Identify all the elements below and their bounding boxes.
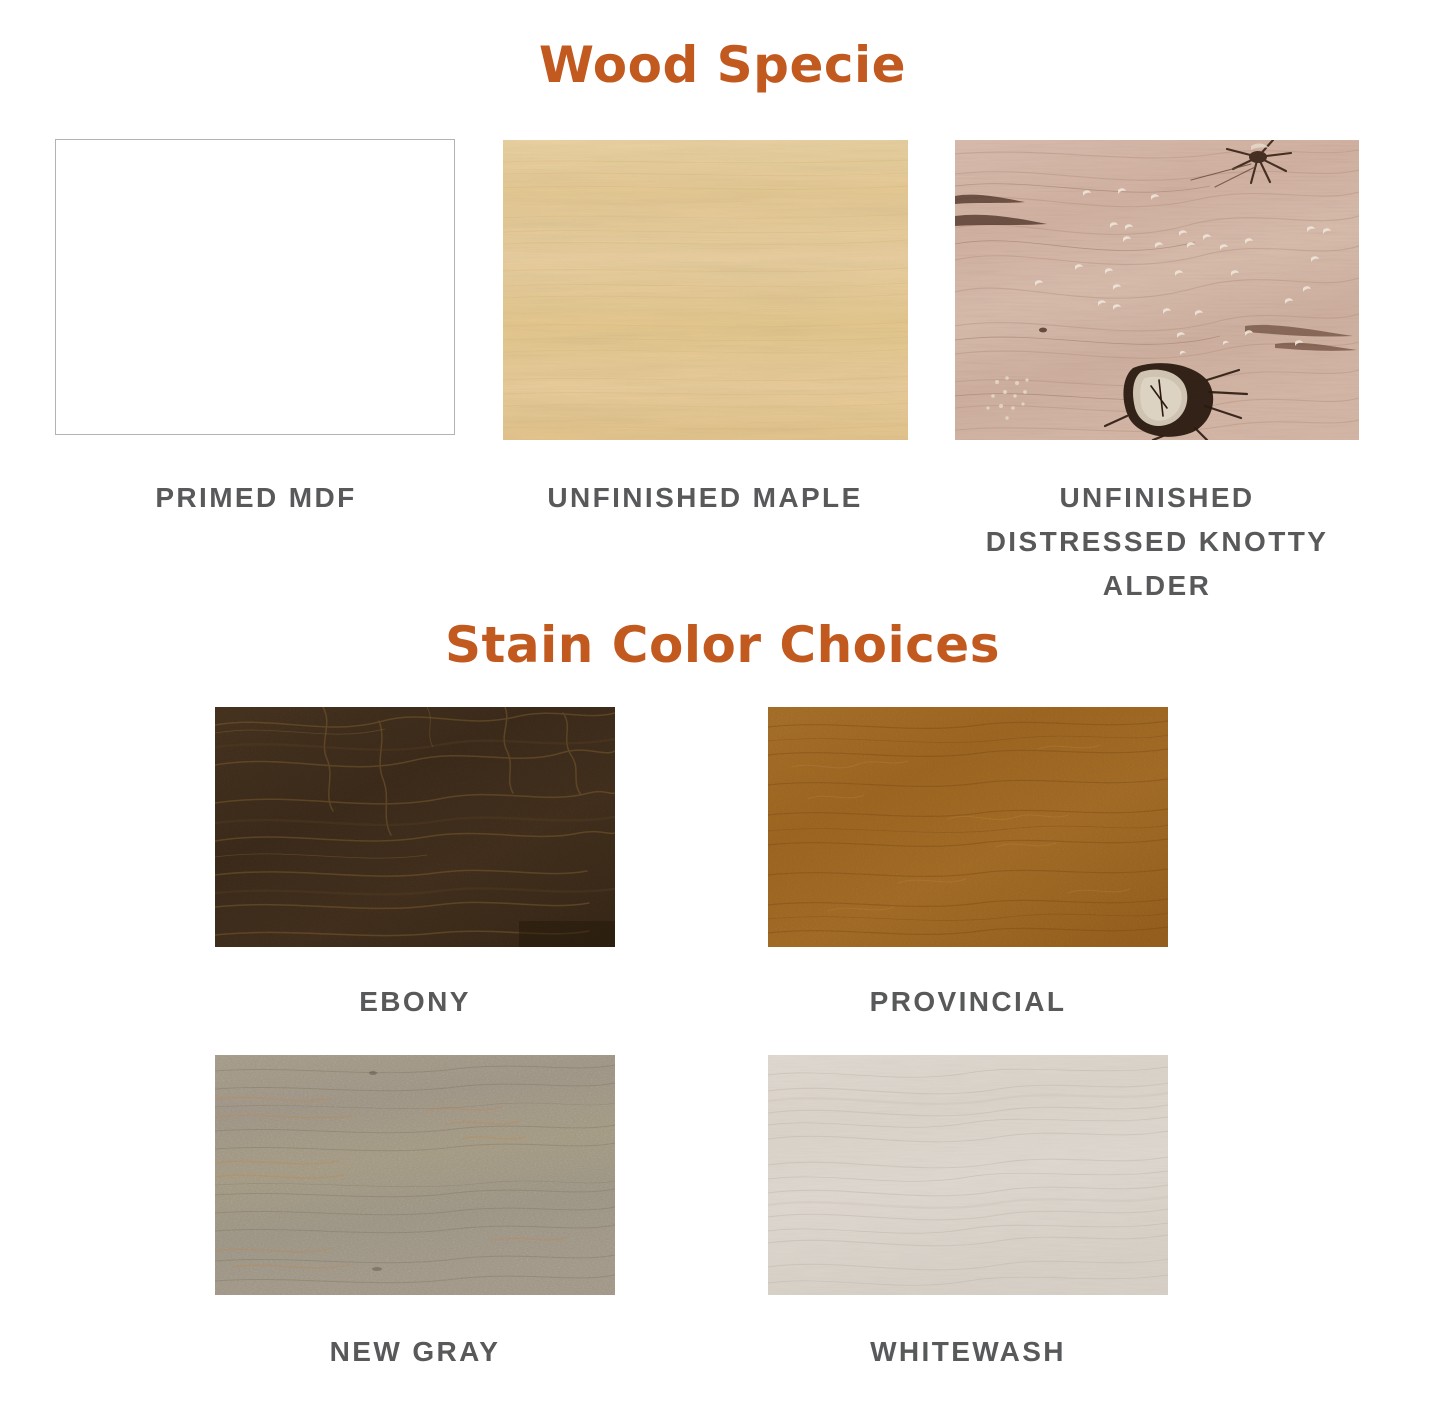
swatch-label-new-gray: NEW GRAY [215,1330,615,1374]
swatch-unfinished-maple[interactable] [503,140,908,440]
whitewash-grain-texture [768,1055,1168,1295]
swatch-whitewash[interactable] [768,1055,1168,1295]
swatch-label-provincial: PROVINCIAL [768,980,1168,1024]
swatch-label-knotty-alder: UNFINISHED DISTRESSED KNOTTY ALDER [955,476,1359,608]
ebony-grain-texture [215,707,615,947]
section-heading-wood-specie: Wood Specie [0,36,1445,94]
swatch-ebony[interactable] [215,707,615,947]
swatch-new-gray[interactable] [215,1055,615,1295]
swatch-knotty-alder[interactable] [955,140,1359,440]
swatch-provincial[interactable] [768,707,1168,947]
provincial-grain-texture [768,707,1168,947]
swatch-label-whitewash: WHITEWASH [768,1330,1168,1374]
new-gray-grain-texture [215,1055,615,1295]
section-heading-stain-colors: Stain Color Choices [0,616,1445,674]
swatch-primed-mdf[interactable] [55,139,455,435]
swatch-label-unfinished-maple: UNFINISHED MAPLE [480,476,930,520]
swatch-board: Wood Specie PRIMED MDF [0,0,1445,1405]
swatch-label-ebony: EBONY [215,980,615,1024]
knotty-alder-texture [955,140,1359,440]
maple-grain-texture [503,140,908,440]
swatch-label-primed-mdf: PRIMED MDF [55,476,457,520]
